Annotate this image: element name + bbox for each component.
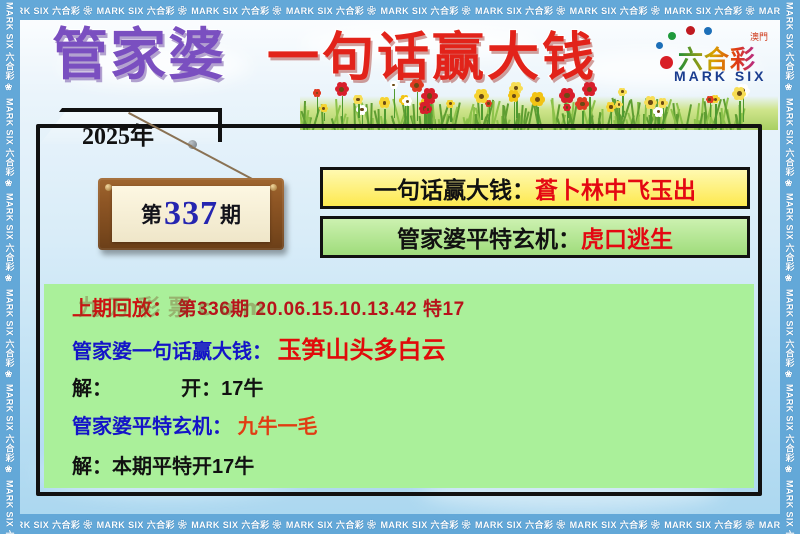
riddle-answer-row: 解：本期平特开17牛 xyxy=(72,450,254,479)
border-strip-bottom: MARK SIX 六合彩 ❀MARK SIX 六合彩 ❀MARK SIX 六合彩… xyxy=(0,514,800,534)
flower-core-decor xyxy=(648,100,653,105)
logo-dot-red xyxy=(660,56,673,69)
flower-stem-decor xyxy=(450,108,452,123)
logo-dot-blue xyxy=(656,42,663,49)
issue-prefix: 第 xyxy=(141,199,162,229)
border-pattern-unit: MARK SIX 六合彩 ❀ xyxy=(662,4,757,17)
border-pattern-unit: MARK SIX 六合彩 ❀ xyxy=(378,518,473,531)
brand-title: 管家婆 xyxy=(52,28,226,84)
flower-decor xyxy=(582,82,597,124)
logo-dot-blue2 xyxy=(704,27,712,35)
flower-core-decor xyxy=(535,97,540,102)
border-pattern-unit: MARK SIX 六合彩 ❀ xyxy=(95,518,190,531)
flower-core-decor xyxy=(609,105,612,108)
border-pattern-unit: MARK SIX 六合彩 ❀ xyxy=(568,518,663,531)
poster-canvas: MARK SIX 六合彩 ❀MARK SIX 六合彩 ❀MARK SIX 六合彩… xyxy=(0,0,800,534)
phrase-answer-row: 解： 开：17牛 xyxy=(72,372,263,401)
border-pattern-unit: MARK SIX 六合彩 ❀ xyxy=(784,382,797,478)
border-pattern-unit: MARK SIX 六合彩 ❀ xyxy=(189,4,284,17)
flower-decor xyxy=(335,82,349,122)
riddle-value: 九牛一毛 xyxy=(238,416,318,438)
band-value: 蒼卜林中飞玉出 xyxy=(535,171,696,205)
border-pattern-unit: MARK SIX 六合彩 ❀ xyxy=(784,0,797,96)
flower-stem-decor xyxy=(619,108,621,120)
flower-decor xyxy=(390,81,398,118)
flower-stem-decor xyxy=(417,92,419,121)
band-label: 管家婆平特玄机： xyxy=(397,220,581,254)
flower-meadow-decor xyxy=(300,78,778,130)
phrase-answer-value: 开：17牛 xyxy=(181,378,263,400)
border-pattern-unit: MARK SIX 六合彩 ❀ xyxy=(662,518,757,531)
replay-label: 上期回放： xyxy=(72,298,172,320)
issue-sign: 第 337 期 xyxy=(70,140,310,280)
sign-board: 第 337 期 xyxy=(98,178,284,250)
phrase-row: 管家婆一句话赢大钱： 玉笋山头多白云 xyxy=(72,330,446,365)
flower-decor xyxy=(530,92,545,127)
phrase-value: 玉笋山头多白云 xyxy=(278,337,446,364)
flower-core-decor xyxy=(587,87,592,92)
flower-stem-decor xyxy=(407,106,409,126)
border-pattern-unit: MARK SIX 六合彩 ❀ xyxy=(4,382,17,478)
riddle-row: 管家婆平特玄机： 九牛一毛 xyxy=(72,410,318,439)
flower-decor xyxy=(615,101,622,120)
border-pattern-unit: MARK SIX 六合彩 ❀ xyxy=(784,287,797,383)
flower-decor xyxy=(320,104,329,121)
border-pattern-unit: MARK SIX 六合彩 ❀ xyxy=(4,287,17,383)
border-pattern-unit: MARK SIX 六合彩 ❀ xyxy=(4,478,17,534)
logo-dot-red2 xyxy=(686,26,695,35)
flower-decor xyxy=(508,90,520,125)
border-pattern-unit: MARK SIX 六合彩 ❀ xyxy=(784,191,797,287)
riddle-label: 管家婆平特玄机： xyxy=(72,416,232,438)
border-strip-right: MARK SIX 六合彩 ❀MARK SIX 六合彩 ❀MARK SIX 六合彩… xyxy=(780,0,800,534)
border-pattern-unit: MARK SIX 六合彩 ❀ xyxy=(95,4,190,17)
flower-core-decor xyxy=(356,98,359,101)
flower-core-decor xyxy=(427,93,432,98)
flower-core-decor xyxy=(449,102,452,105)
flower-stem-decor xyxy=(611,112,613,124)
sign-rope-left xyxy=(192,146,256,181)
issue-suffix: 期 xyxy=(220,199,241,229)
flower-stem-decor xyxy=(358,104,360,117)
flower-core-decor xyxy=(564,93,569,98)
flower-core-decor xyxy=(479,94,484,99)
sign-nail-right-icon xyxy=(270,184,277,191)
flower-stem-decor xyxy=(589,97,591,124)
replay-row: 上期回放： 第336期 20.06.15.10.13.42 特17 xyxy=(72,292,465,321)
brand-slogan: 一句话赢大钱 xyxy=(267,32,597,84)
flower-decor xyxy=(474,89,488,120)
border-pattern-unit: MARK SIX 六合彩 ❀ xyxy=(568,4,663,17)
border-strip-left: MARK SIX 六合彩 ❀MARK SIX 六合彩 ❀MARK SIX 六合彩… xyxy=(0,0,20,534)
border-pattern-unit: MARK SIX 六合彩 ❀ xyxy=(378,4,473,17)
flower-stem-decor xyxy=(481,104,483,121)
sign-paper: 第 337 期 xyxy=(112,186,270,242)
flower-core-decor xyxy=(708,98,711,101)
logo-dot-green xyxy=(668,32,676,40)
flower-decor xyxy=(313,89,321,117)
flower-core-decor xyxy=(339,87,344,92)
flower-stem-decor xyxy=(324,113,326,121)
flower-stem-decor xyxy=(710,103,712,117)
border-pattern-unit: MARK SIX 六合彩 ❀ xyxy=(4,191,17,287)
flower-stem-decor xyxy=(394,89,396,118)
phrase-label: 管家婆一句话赢大钱： xyxy=(72,341,272,363)
flower-stem-decor xyxy=(514,102,516,125)
border-pattern-unit: MARK SIX 六合彩 ❀ xyxy=(4,96,17,192)
border-pattern-unit: MARK SIX 六合彩 ❀ xyxy=(784,478,797,534)
flower-decor xyxy=(563,104,571,125)
flower-core-decor xyxy=(737,91,742,96)
band-value: 虎口逃生 xyxy=(581,220,673,254)
band-label: 一句话赢大钱： xyxy=(374,171,535,205)
issue-number: 337 xyxy=(164,195,218,233)
flower-decor xyxy=(446,100,454,123)
flower-core-decor xyxy=(414,83,419,88)
headline-band-phrase: 一句话赢大钱： 蒼卜林中飞玉出 xyxy=(320,167,750,209)
flower-decor xyxy=(706,96,714,117)
flower-decor xyxy=(379,97,391,126)
sign-nail-left-icon xyxy=(105,184,112,191)
border-pattern-unit: MARK SIX 六合彩 ❀ xyxy=(784,96,797,192)
border-pattern-unit: MARK SIX 六合彩 ❀ xyxy=(4,0,17,96)
border-strip-top: MARK SIX 六合彩 ❀MARK SIX 六合彩 ❀MARK SIX 六合彩… xyxy=(0,0,800,20)
flower-core-decor xyxy=(618,103,620,105)
phrase-answer-label: 解： xyxy=(72,378,112,400)
flower-decor xyxy=(410,78,424,121)
flower-core-decor xyxy=(512,94,516,98)
flower-stem-decor xyxy=(317,97,319,117)
border-pattern-unit: MARK SIX 六合彩 ❀ xyxy=(473,4,568,17)
flower-decor xyxy=(732,87,746,128)
previous-results-panel: 上期回放： 第336期 20.06.15.10.13.42 特17 管家婆一句话… xyxy=(44,284,754,488)
flower-decor xyxy=(353,94,363,117)
border-pattern-unit: MARK SIX 六合彩 ❀ xyxy=(189,518,284,531)
flower-stem-decor xyxy=(342,96,344,122)
flower-core-decor xyxy=(406,100,409,103)
border-pattern-unit: MARK SIX 六合彩 ❀ xyxy=(473,518,568,531)
replay-value: 第336期 20.06.15.10.13.42 特17 xyxy=(178,299,465,320)
flower-core-decor xyxy=(714,98,717,101)
headline-band-riddle: 管家婆平特玄机： 虎口逃生 xyxy=(320,216,750,258)
border-pattern-unit: MARK SIX 六合彩 ❀ xyxy=(284,518,379,531)
border-pattern-unit: MARK SIX 六合彩 ❀ xyxy=(284,4,379,17)
